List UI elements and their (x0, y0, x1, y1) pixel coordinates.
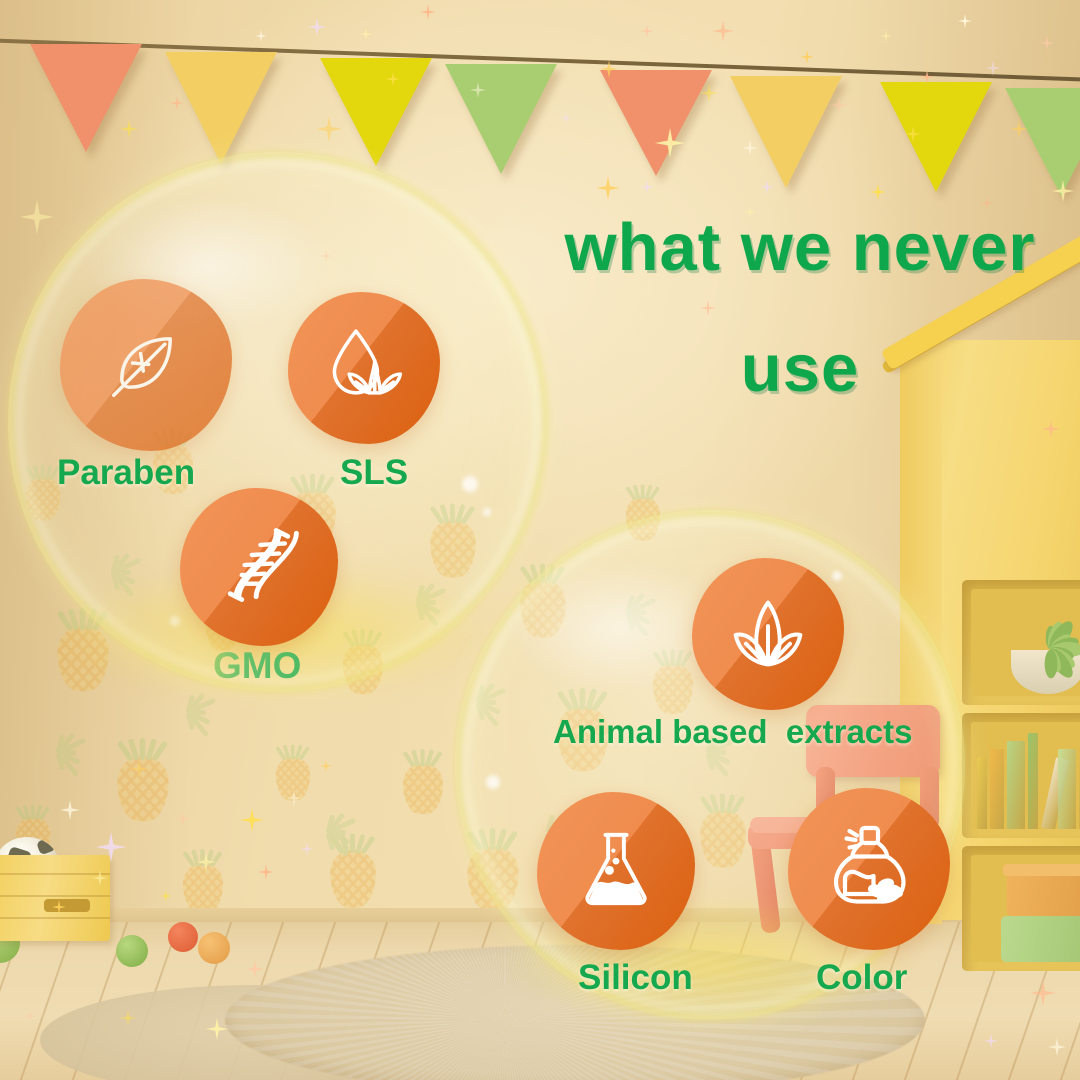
bookshelf-shelf-2 (962, 713, 1080, 838)
sparkle-icon (308, 18, 326, 36)
sparkle-icon (958, 14, 972, 28)
pineapple-motif (430, 520, 476, 577)
pineapple-motif (26, 477, 61, 521)
sparkle-icon (246, 960, 264, 978)
sparkle-icon (316, 116, 342, 142)
sparkle-icon (92, 870, 108, 886)
bookshelf-shelf-1 (962, 580, 1080, 705)
sparkle-icon (640, 24, 654, 38)
book (1007, 741, 1025, 829)
sparkle-icon (320, 760, 332, 772)
bunting-flag (730, 76, 842, 188)
sparkle-icon (386, 72, 400, 86)
toy-ball-green (116, 935, 148, 967)
sparkle-icon (655, 128, 685, 158)
sparkle-icon (712, 20, 734, 42)
palm-frond-motif (600, 590, 660, 634)
orange-storage-box (1007, 872, 1080, 916)
sparkle-icon (1010, 120, 1028, 138)
sparkle-icon (160, 890, 172, 902)
sparkle-icon (130, 760, 148, 778)
icon-sls[interactable] (288, 292, 440, 444)
leaf-icon (103, 320, 189, 411)
label-animal-extracts: Animal based extracts (553, 713, 913, 751)
sparkle-icon (1040, 36, 1054, 50)
sparkle-icon (760, 180, 774, 194)
icon-animal-extracts[interactable] (692, 558, 844, 710)
dna-helix-icon (213, 519, 305, 616)
sparkle-icon (196, 852, 216, 872)
label-silicon: Silicon (578, 958, 693, 998)
label-color: Color (816, 958, 907, 998)
potted-plant (1023, 616, 1080, 656)
sparkle-icon (20, 200, 54, 234)
label-sls: SLS (340, 453, 408, 493)
title-line-2: use (540, 333, 1060, 404)
bunting-flag (445, 64, 557, 174)
bunting-flag (880, 82, 992, 192)
plant-leaf (1045, 650, 1058, 679)
toy-ball-yellow (198, 932, 230, 964)
book (1058, 749, 1076, 829)
sparkle-icon (52, 900, 66, 914)
bookshelf-shelf-3 (962, 846, 1080, 971)
sparkle-icon (880, 30, 892, 42)
sparkle-icon (360, 28, 372, 40)
sparkle-icon (320, 250, 332, 262)
pineapple-motif (520, 580, 566, 637)
sparkle-icon (980, 196, 994, 210)
icon-paraben[interactable] (60, 279, 232, 451)
label-paraben: Paraben (57, 453, 195, 493)
sparkle-icon (984, 1034, 998, 1048)
erlenmeyer-flask-icon (574, 827, 658, 916)
cart-body (0, 855, 110, 941)
sparkle-icon (420, 4, 436, 20)
sparkle-icon (240, 808, 264, 832)
lotus-flower-icon (721, 585, 815, 684)
perfume-bottle-flower-icon (821, 819, 917, 920)
pineapple-motif (343, 644, 383, 694)
sparkle-icon (905, 126, 921, 142)
sparkle-icon (206, 1018, 228, 1040)
shelf-3-contents (971, 855, 1080, 962)
sparkle-icon (742, 140, 758, 156)
pineapple-motif (626, 497, 661, 541)
sparkle-icon (96, 832, 126, 862)
sparkle-icon (870, 184, 886, 200)
shelf-2-books (971, 722, 1080, 829)
palm-frond-motif (450, 680, 510, 724)
sparkle-icon (120, 1010, 136, 1026)
sparkle-icon (120, 120, 138, 138)
sparkle-icon (985, 60, 1001, 76)
sparkle-icon (300, 842, 314, 856)
bunting-flag (320, 58, 432, 166)
sparkle-icon (920, 70, 934, 84)
book (990, 749, 1004, 829)
sparkle-icon (800, 50, 814, 64)
poster-canvas: Paraben SLS (0, 0, 1080, 1080)
pineapple-motif (467, 847, 518, 911)
orange-storage-box-lid (1003, 864, 1080, 876)
toy-ball-orange (168, 922, 198, 952)
cart-handle (44, 899, 90, 912)
sparkle-icon (170, 96, 184, 110)
title-line-1: what we never (540, 212, 1060, 283)
sparkle-icon (830, 96, 848, 114)
sparkle-icon (700, 84, 718, 102)
pineapple-motif (403, 764, 443, 814)
icon-silicon[interactable] (537, 792, 695, 950)
sparkle-icon (176, 812, 190, 826)
pineapple-motif (653, 664, 693, 714)
sparkle-icon (1052, 180, 1074, 202)
page-title: what we never use (540, 212, 1060, 404)
sparkle-icon (470, 82, 486, 98)
sparkle-icon (1048, 1038, 1066, 1056)
sparkle-icon (60, 800, 80, 820)
sparkle-icon (560, 112, 572, 124)
sparkle-icon (1030, 980, 1056, 1006)
palm-frond-motif (160, 690, 220, 734)
sparkle-icon (640, 180, 654, 194)
bunting-flag (600, 70, 712, 176)
sparkle-icon (255, 30, 267, 42)
label-gmo: GMO (213, 645, 301, 687)
pineapple-motif (57, 627, 108, 691)
sparkle-icon (596, 176, 620, 200)
sparkle-icon (1042, 420, 1060, 438)
book (1028, 733, 1038, 829)
shelf-1-contents (971, 589, 1080, 696)
sparkle-icon (24, 1010, 36, 1022)
sparkle-icon (286, 790, 302, 806)
palm-frond-motif (390, 580, 450, 624)
green-storage-box (1001, 916, 1080, 962)
sparkle-icon (258, 864, 274, 880)
book (977, 757, 987, 829)
icon-gmo[interactable] (180, 488, 338, 646)
water-drop-leaf-icon (321, 323, 407, 414)
palm-frond-motif (30, 730, 90, 774)
icon-color[interactable] (788, 788, 950, 950)
pineapple-motif (330, 850, 376, 907)
palm-frond-motif (85, 550, 145, 594)
sparkle-icon (600, 60, 618, 78)
